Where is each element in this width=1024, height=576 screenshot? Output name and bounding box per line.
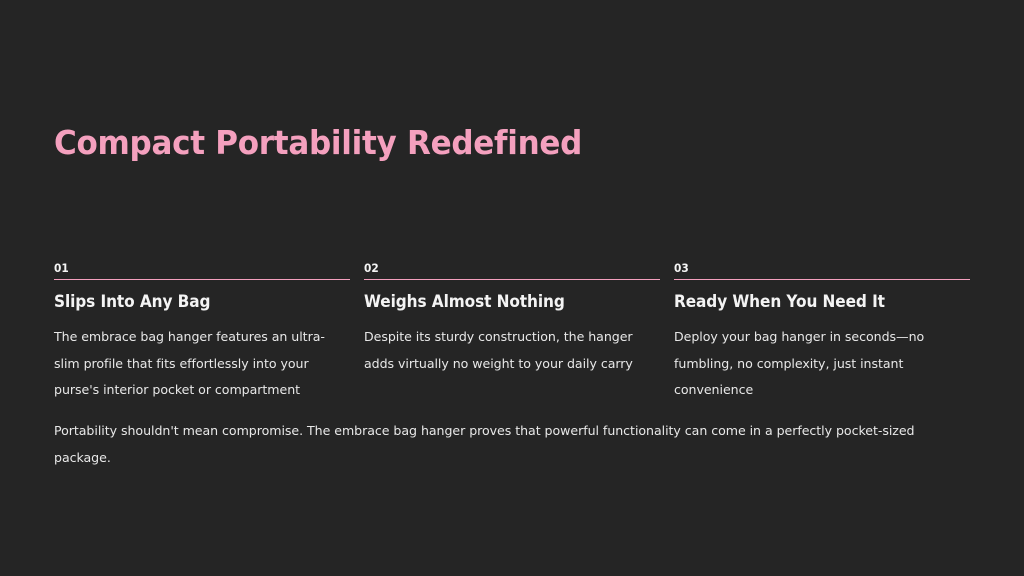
feature-column-2: 02 Weighs Almost Nothing Despite its stu… xyxy=(364,262,660,404)
slide-root: Compact Portability Redefined 01 Slips I… xyxy=(0,0,1024,576)
column-divider xyxy=(364,279,660,280)
column-heading: Ready When You Need It xyxy=(674,292,949,312)
page-title: Compact Portability Redefined xyxy=(54,122,582,164)
summary-text: Portability shouldn't mean compromise. T… xyxy=(54,418,929,471)
column-number: 01 xyxy=(54,262,326,275)
column-number: 03 xyxy=(674,262,946,275)
column-heading: Slips Into Any Bag xyxy=(54,292,329,312)
column-divider xyxy=(54,279,350,280)
feature-column-3: 03 Ready When You Need It Deploy your ba… xyxy=(674,262,970,404)
column-body: Deploy your bag hanger in seconds—no fum… xyxy=(674,324,970,404)
column-body: Despite its sturdy construction, the han… xyxy=(364,324,660,377)
feature-column-1: 01 Slips Into Any Bag The embrace bag ha… xyxy=(54,262,350,404)
column-body: The embrace bag hanger features an ultra… xyxy=(54,324,350,404)
column-divider xyxy=(674,279,970,280)
column-number: 02 xyxy=(364,262,636,275)
column-heading: Weighs Almost Nothing xyxy=(364,292,639,312)
feature-columns: 01 Slips Into Any Bag The embrace bag ha… xyxy=(54,262,970,404)
